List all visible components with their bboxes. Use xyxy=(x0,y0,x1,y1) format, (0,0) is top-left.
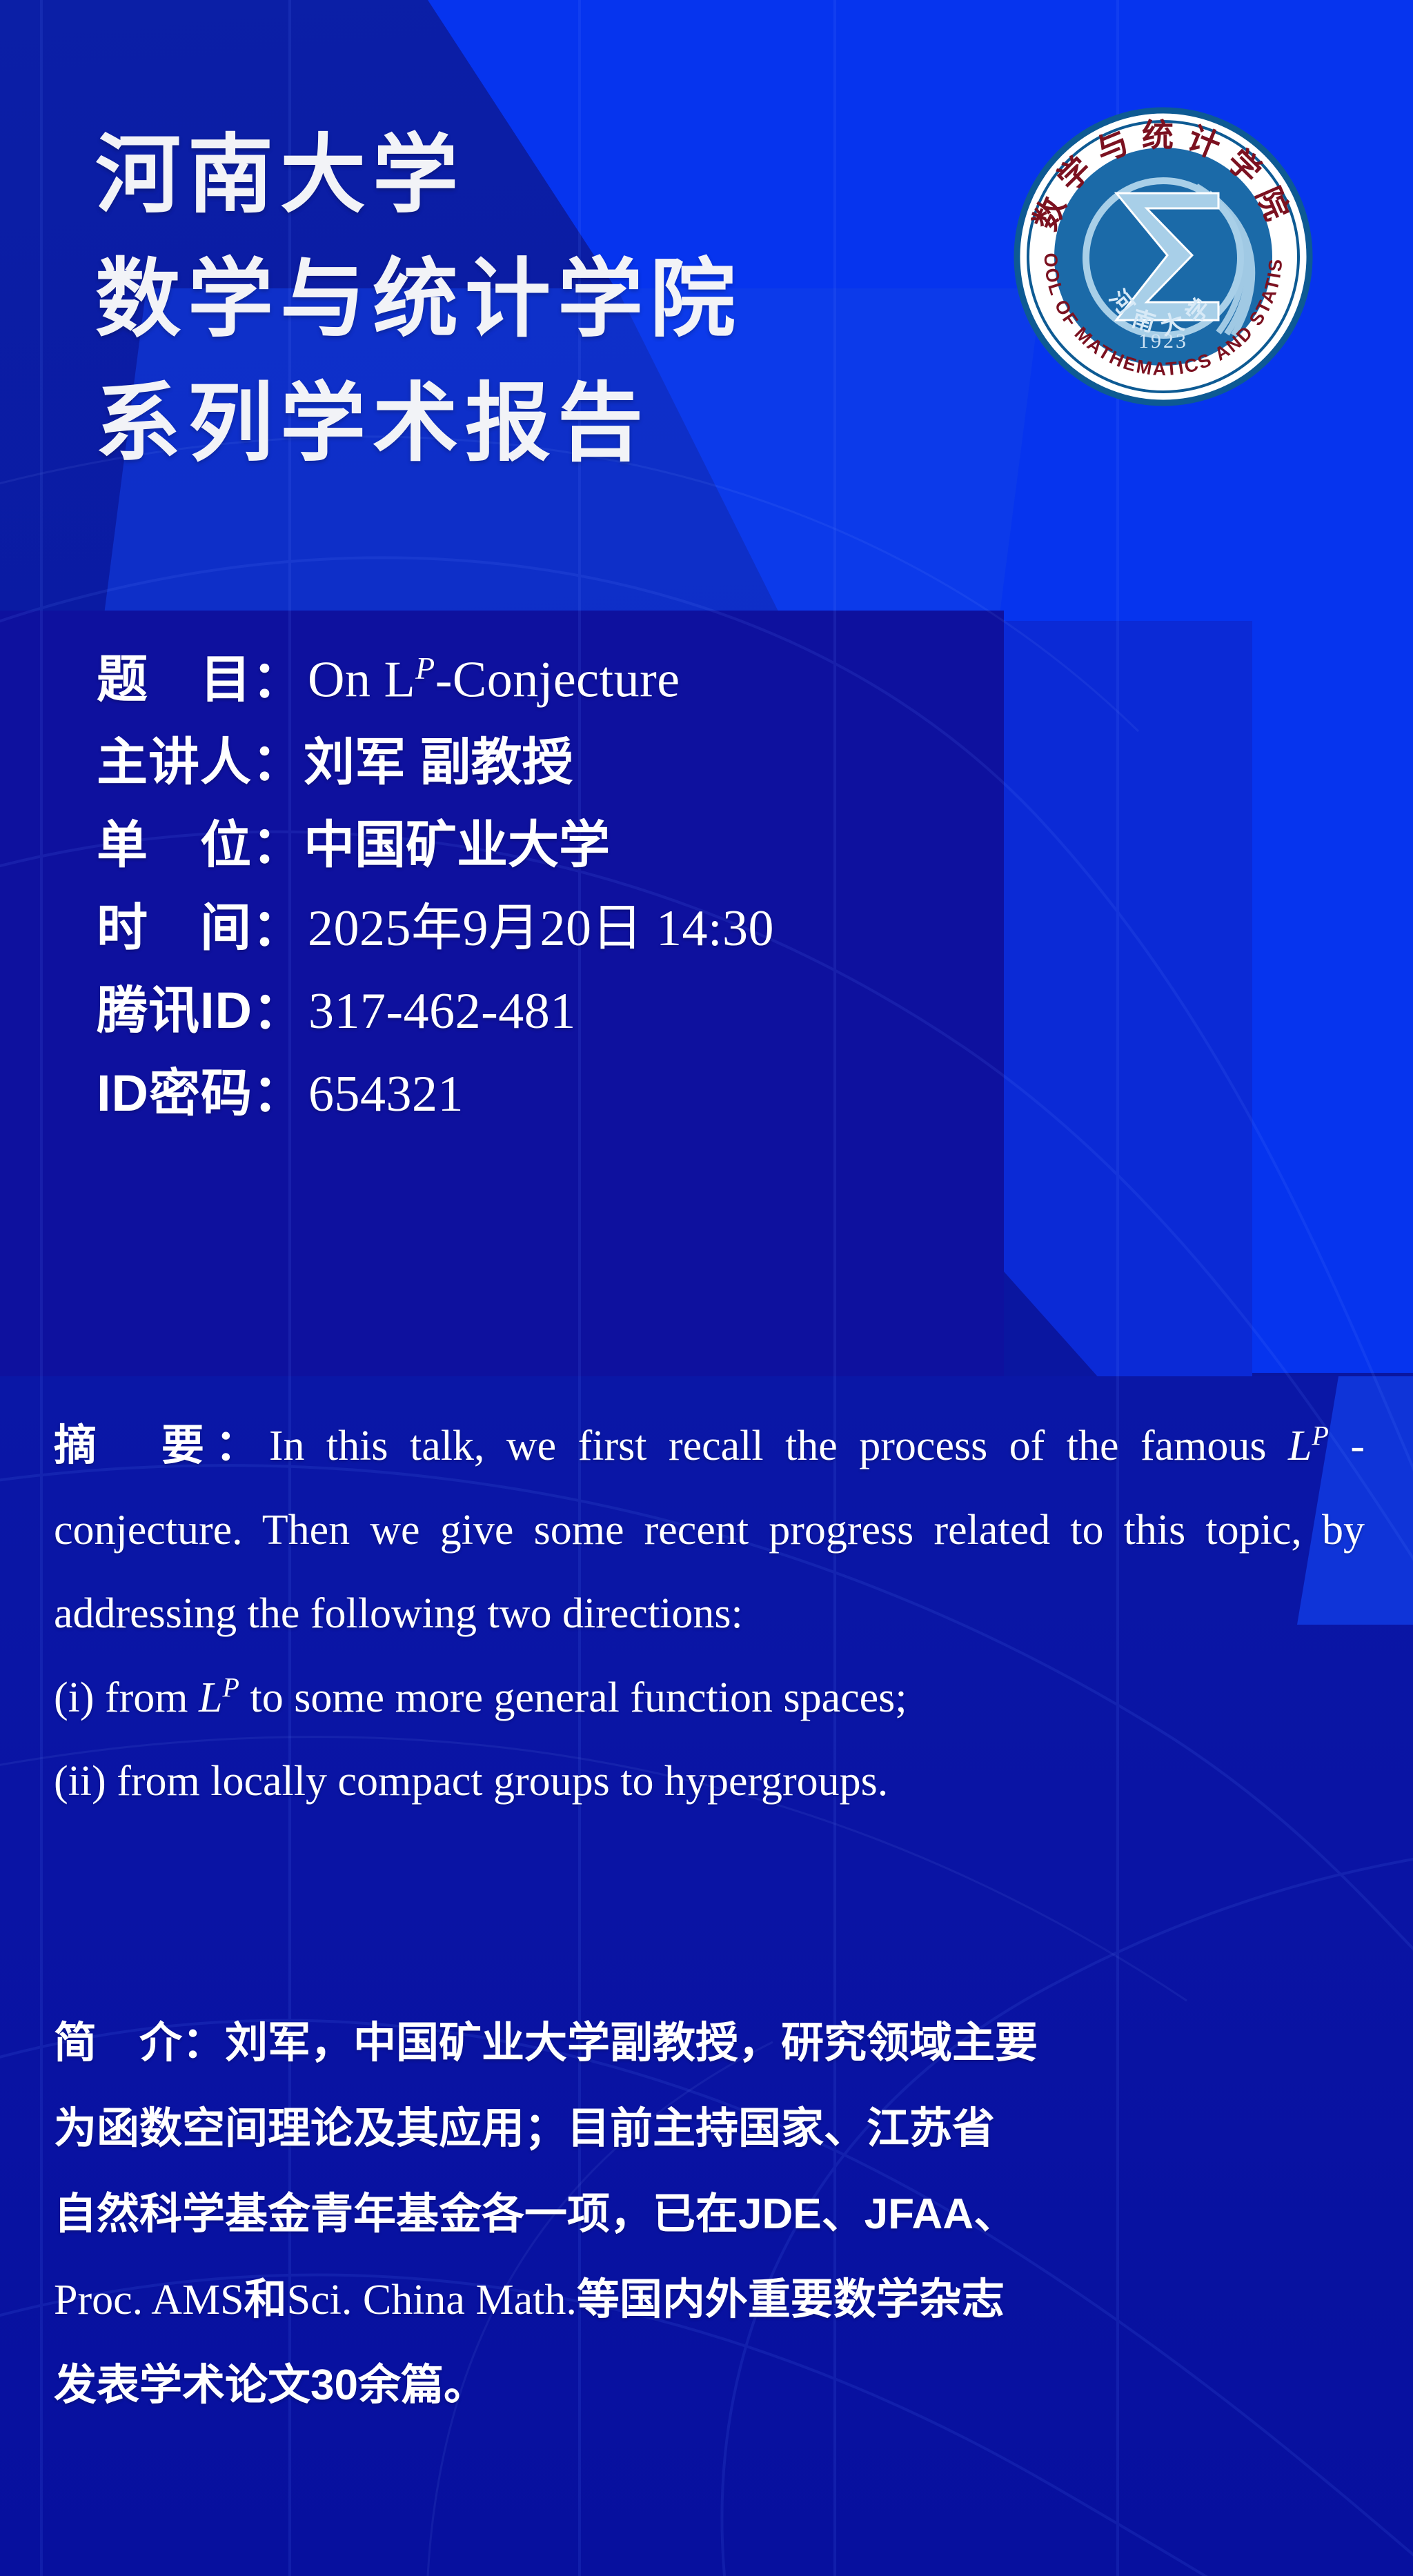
bio-line-2: 为函数空间理论及其应用；目前主持国家、江苏省 xyxy=(54,2086,1372,2172)
bio-label: 简 介： xyxy=(54,2019,225,2067)
bio-line-4: Proc. AMS和Sci. China Math.等国内外重要数学杂志 xyxy=(54,2257,1372,2343)
bio-text-1: 刘军，中国矿业大学副教授，研究领域主要 xyxy=(225,2019,1038,2067)
bio-line-1: 简 介：刘军，中国矿业大学副教授，研究领域主要 xyxy=(54,2001,1372,2086)
info-label-affiliation: 单 位： xyxy=(97,804,304,878)
abstract-item-i: (i) from LP to some more general functio… xyxy=(54,1656,1365,1741)
abstract-label: 摘 要： xyxy=(54,1422,269,1469)
bio-line4-mid: 和 xyxy=(244,2276,287,2324)
abstract-math-superscript: P xyxy=(1312,1420,1328,1451)
title-value-tail: -Conjecture xyxy=(435,652,680,709)
info-value-affiliation: 中国矿业大学 xyxy=(304,804,610,878)
abstract-item-ii: (ii) from locally compact groups to hype… xyxy=(54,1740,1365,1824)
info-label-tencent-id: 腾讯ID： xyxy=(97,969,304,1043)
bio-journal-1: Proc. AMS xyxy=(54,2277,244,2324)
info-value-tencent-id: 317-462-481 xyxy=(308,982,576,1041)
title-line-2: 数学与统计学院 xyxy=(95,238,1006,362)
title-line-3: 系列学术报告 xyxy=(95,362,1006,486)
abstract-body-part1: In this talk, we first recall the proces… xyxy=(269,1423,1288,1469)
info-row-title: 题 目： On LP-Conjecture xyxy=(97,638,1132,721)
title-line-1: 河南大学 xyxy=(95,114,1006,238)
title-value-plain: On L xyxy=(308,652,415,709)
abstract-math-L: L xyxy=(1288,1423,1312,1469)
title-value-superscript: P xyxy=(415,651,435,686)
speaker-bio-section: 简 介：刘军，中国矿业大学副教授，研究领域主要 为函数空间理论及其应用；目前主持… xyxy=(54,2001,1372,2428)
abstract-item-i-math: L xyxy=(199,1674,222,1721)
info-label-id-password: ID密码： xyxy=(97,1052,304,1126)
bio-line4-tail: 等国内外重要数学杂志 xyxy=(577,2276,1005,2324)
info-label-datetime: 时 间： xyxy=(97,886,304,960)
talk-info-list: 题 目： On LP-Conjecture 主讲人： 刘军 副教授 单 位： 中… xyxy=(97,638,1132,1135)
institution-title: 河南大学 数学与统计学院 系列学术报告 xyxy=(95,114,1006,486)
university-logo: 1923 河南大学 数学与统计学院 SCHOOL OF MATHEMATICS … xyxy=(1011,105,1315,408)
poster-header: 河南大学 数学与统计学院 系列学术报告 xyxy=(0,0,1413,614)
abstract-section: 摘 要：In this talk, we first recall the pr… xyxy=(54,1404,1365,1824)
info-row-affiliation: 单 位： 中国矿业大学 xyxy=(97,804,1132,886)
abstract-item-i-superscript: P xyxy=(223,1672,239,1703)
bio-journal-2: Sci. China Math. xyxy=(287,2277,577,2324)
abstract-paragraph: 摘 要：In this talk, we first recall the pr… xyxy=(54,1404,1365,1656)
info-row-speaker: 主讲人： 刘军 副教授 xyxy=(97,721,1132,804)
info-value-speaker: 刘军 副教授 xyxy=(304,721,573,795)
abstract-item-i-post: to some more general function spaces; xyxy=(239,1674,907,1721)
poster-root: 河南大学 数学与统计学院 系列学术报告 xyxy=(0,0,1413,2576)
info-value-title: On LP-Conjecture xyxy=(308,650,680,710)
bio-line-5: 发表学术论文30余篇。 xyxy=(54,2343,1372,2428)
info-value-datetime: 2025年9月20日 14:30 xyxy=(308,886,774,960)
info-value-id-password: 654321 xyxy=(308,1065,464,1124)
info-row-id-password: ID密码： 654321 xyxy=(97,1052,1132,1135)
abstract-item-i-pre: (i) from xyxy=(54,1674,199,1721)
bio-line-3: 自然科学基金青年基金各一项，已在JDE、JFAA、 xyxy=(54,2172,1372,2257)
emblem-icon: 1923 河南大学 数学与统计学院 SCHOOL OF MATHEMATICS … xyxy=(1011,105,1315,408)
info-label-title: 题 目： xyxy=(97,638,304,712)
info-label-speaker: 主讲人： xyxy=(97,721,304,795)
info-row-tencent-id: 腾讯ID： 317-462-481 xyxy=(97,969,1132,1052)
info-row-datetime: 时 间： 2025年9月20日 14:30 xyxy=(97,886,1132,969)
